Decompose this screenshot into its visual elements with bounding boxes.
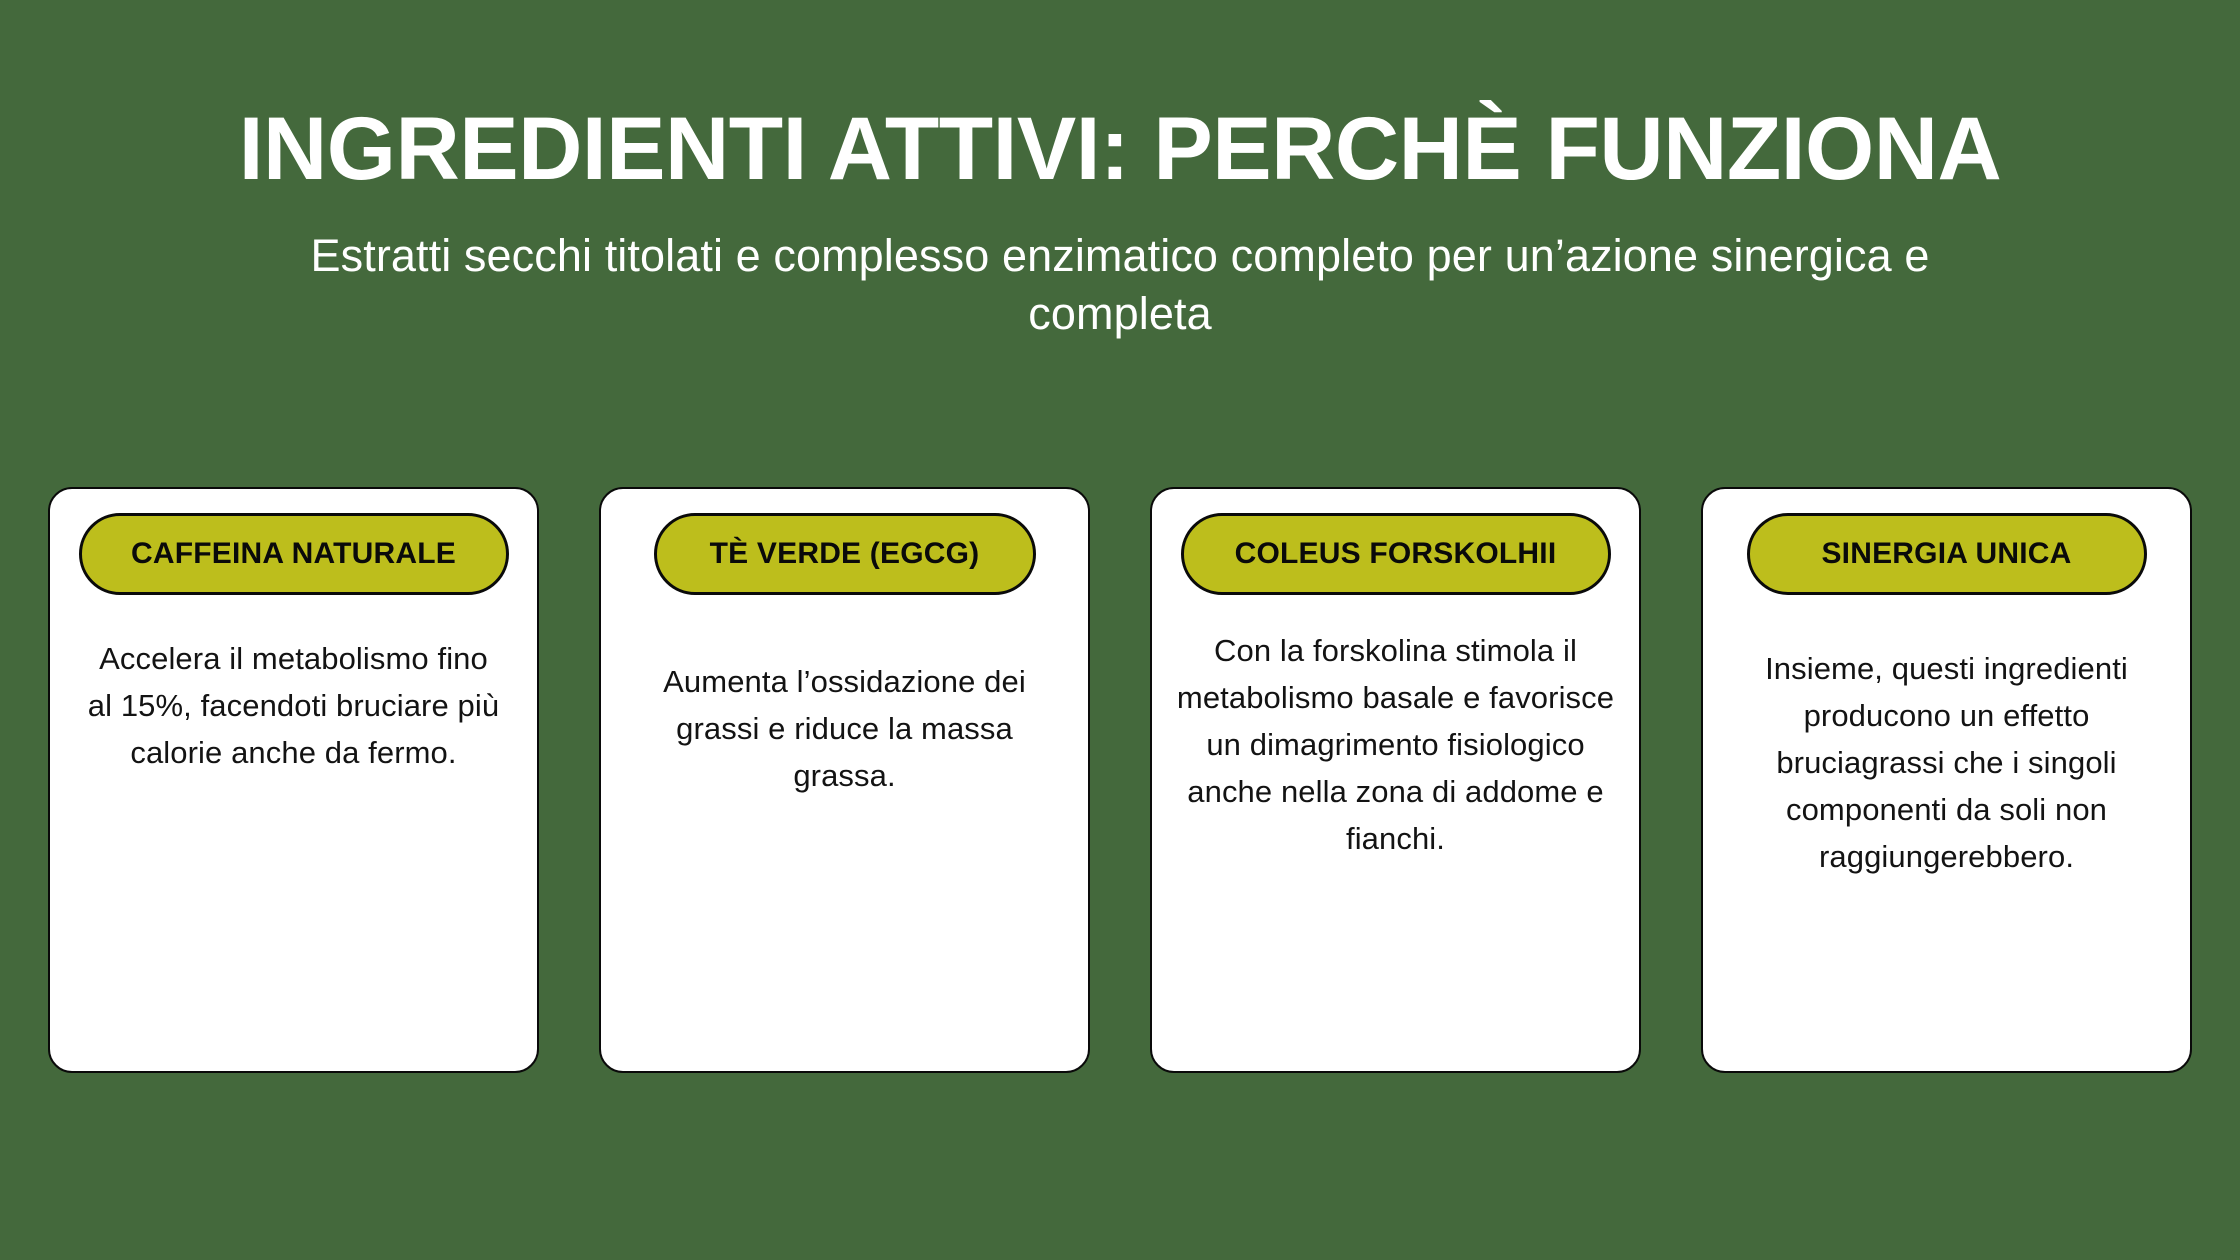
- ingredient-badge-label: SINERGIA UNICA: [1821, 539, 2071, 569]
- slide-root: INGREDIENTI ATTIVI: PERCHÈ FUNZIONA Estr…: [0, 0, 2240, 1260]
- ingredient-badge: TÈ VERDE (EGCG): [654, 513, 1036, 595]
- ingredient-badge: CAFFEINA NATURALE: [79, 513, 509, 595]
- ingredient-description: Con la forskolina stimola il metabolismo…: [1176, 627, 1616, 862]
- ingredient-card: SINERGIA UNICA Insieme, questi ingredien…: [1701, 487, 2192, 1073]
- ingredient-card-list: CAFFEINA NATURALE Accelera il metabolism…: [48, 487, 2192, 1073]
- ingredient-badge: SINERGIA UNICA: [1747, 513, 2147, 595]
- ingredient-description: Insieme, questi ingredienti producono un…: [1733, 645, 2161, 880]
- page-title: INGREDIENTI ATTIVI: PERCHÈ FUNZIONA: [0, 104, 2240, 193]
- ingredient-badge: COLEUS FORSKOLHII: [1181, 513, 1611, 595]
- ingredient-card: COLEUS FORSKOLHII Con la forskolina stim…: [1150, 487, 1641, 1073]
- ingredient-description: Accelera il metabolismo fino al 15%, fac…: [84, 635, 504, 776]
- header: INGREDIENTI ATTIVI: PERCHÈ FUNZIONA Estr…: [0, 0, 2240, 342]
- ingredient-card: CAFFEINA NATURALE Accelera il metabolism…: [48, 487, 539, 1073]
- ingredient-description: Aumenta l’ossidazione dei grassi e riduc…: [635, 658, 1055, 799]
- ingredient-badge-label: CAFFEINA NATURALE: [131, 539, 456, 569]
- ingredient-badge-label: COLEUS FORSKOLHII: [1235, 539, 1557, 569]
- page-subtitle: Estratti secchi titolati e complesso enz…: [300, 227, 1940, 342]
- ingredient-badge-label: TÈ VERDE (EGCG): [710, 539, 980, 569]
- ingredient-card: TÈ VERDE (EGCG) Aumenta l’ossidazione de…: [599, 487, 1090, 1073]
